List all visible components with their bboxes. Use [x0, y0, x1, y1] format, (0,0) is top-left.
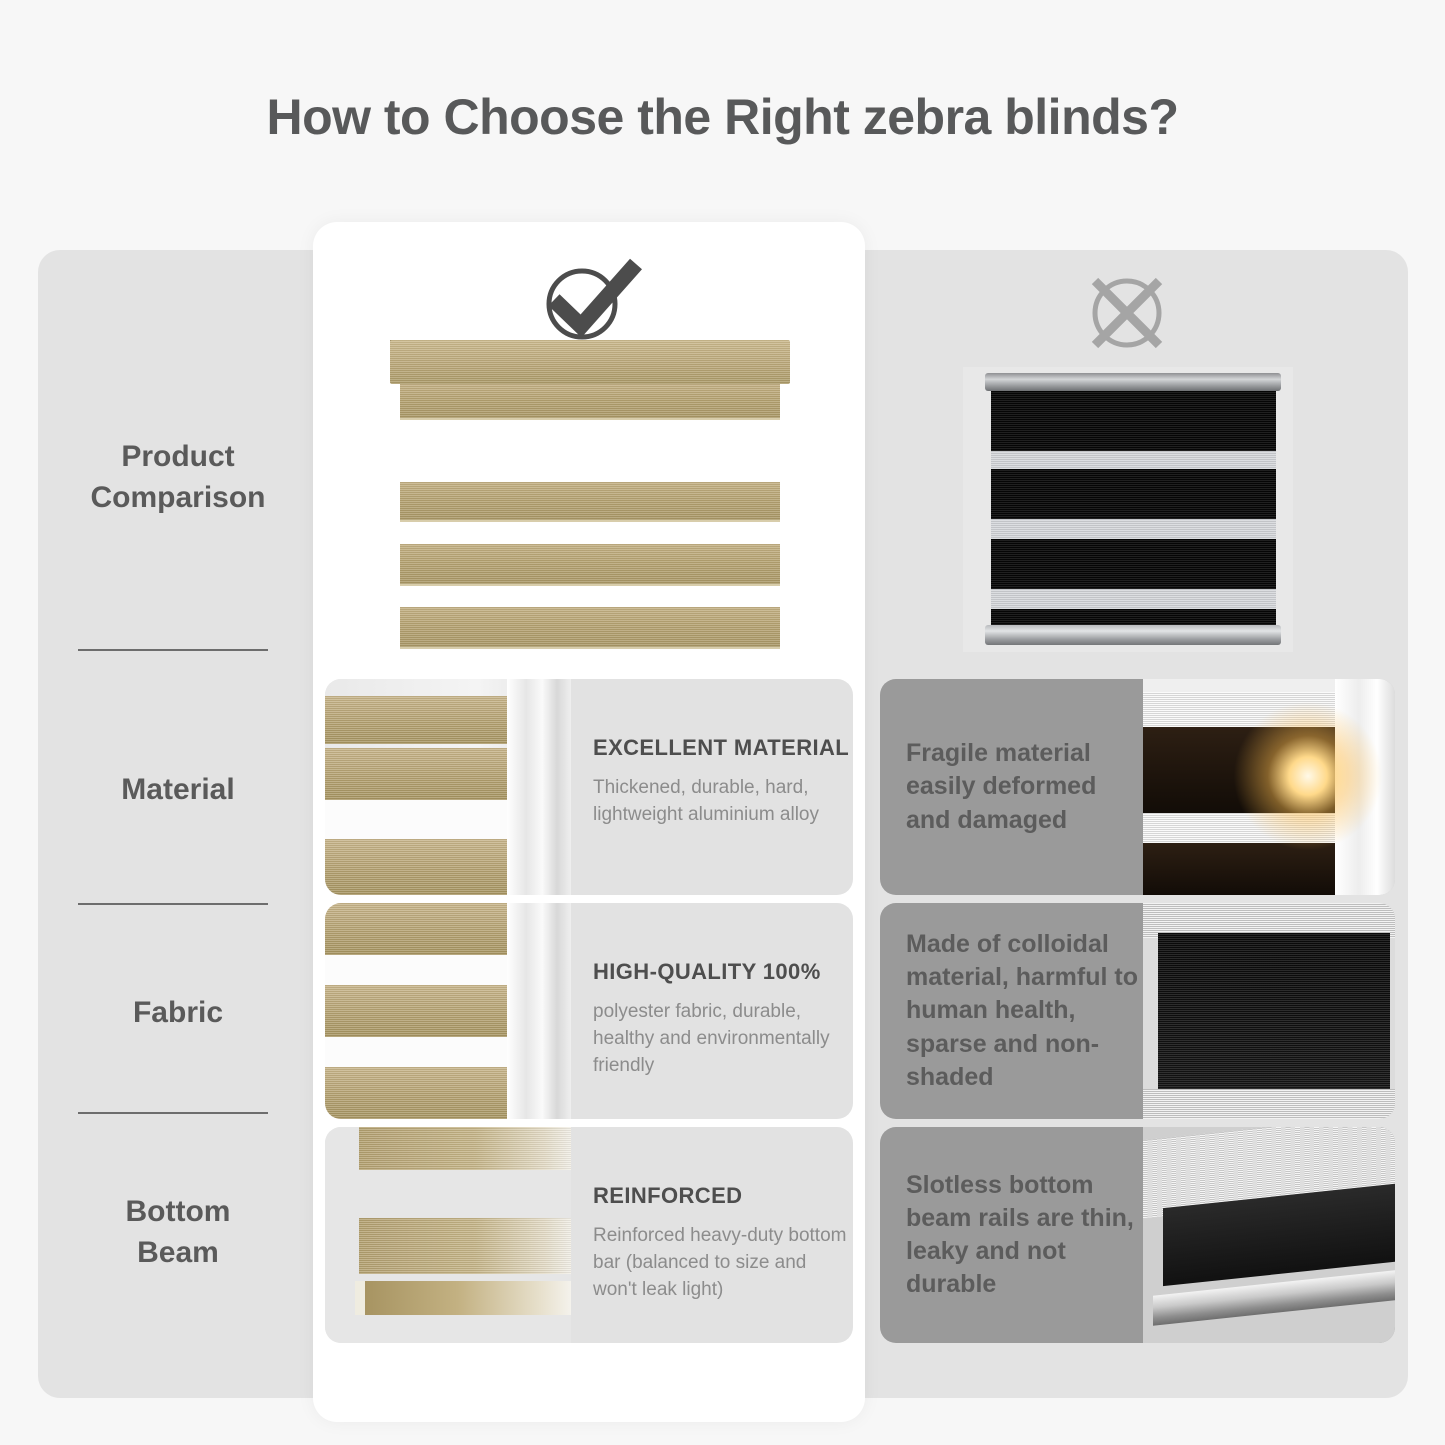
- feature-text: REINFORCED Reinforced heavy-duty bottom …: [571, 1127, 853, 1343]
- row-label-line2: Beam: [58, 1233, 298, 1274]
- feature-card-fabric-bad: Made of colloidal material, harmful to h…: [880, 903, 1395, 1119]
- feature-text: Made of colloidal material, harmful to h…: [880, 903, 1143, 1119]
- row-label-line1: Fabric: [58, 993, 298, 1034]
- feature-text: Slotless bottom beam rails are thin, lea…: [880, 1127, 1143, 1343]
- feature-text: EXCELLENT MATERIAL Thickened, durable, h…: [571, 679, 853, 895]
- row-divider: [78, 903, 268, 905]
- feature-photo: [1143, 1127, 1395, 1343]
- blind-bottom-bar: [985, 625, 1281, 645]
- feature-title: HIGH-QUALITY 100%: [593, 959, 853, 985]
- feature-text: HIGH-QUALITY 100% polyester fabric, dura…: [571, 903, 853, 1119]
- row-label-bottom-beam: Bottom Beam: [58, 1192, 298, 1273]
- feature-photo: [1143, 903, 1395, 1119]
- blind-slat: [400, 607, 780, 649]
- row-label-fabric: Fabric: [58, 993, 298, 1034]
- row-divider: [78, 1112, 268, 1114]
- not-recommended-blind-hero-image: [963, 367, 1293, 652]
- blind-fabric: [991, 391, 1276, 625]
- infographic-root: How to Choose the Right zebra blinds? Pr…: [0, 0, 1445, 1445]
- recommended-blind-hero-image: [390, 340, 790, 665]
- row-label-line2: Comparison: [58, 478, 298, 519]
- row-label-line1: Product: [58, 437, 298, 478]
- feature-card-bottom-beam-bad: Slotless bottom beam rails are thin, lea…: [880, 1127, 1395, 1343]
- feature-description: Fragile material easily deformed and dam…: [906, 737, 1143, 837]
- beige-blinds-photo: [325, 679, 571, 895]
- feature-card-fabric-good: HIGH-QUALITY 100% polyester fabric, dura…: [325, 903, 853, 1119]
- feature-card-material-good: EXCELLENT MATERIAL Thickened, durable, h…: [325, 679, 853, 895]
- row-label-product-comparison: Product Comparison: [58, 437, 298, 518]
- cross-circle-icon: [1086, 272, 1168, 354]
- blind-slat: [400, 384, 780, 420]
- feature-photo: [325, 1127, 571, 1343]
- row-label-material: Material: [58, 770, 298, 811]
- thin-bottom-beam-photo: [1143, 1127, 1395, 1343]
- sun-leak-photo: [1143, 679, 1395, 895]
- feature-title: REINFORCED: [593, 1183, 853, 1209]
- feature-photo: [325, 903, 571, 1119]
- feature-description: Made of colloidal material, harmful to h…: [906, 928, 1143, 1094]
- blind-slat: [400, 544, 780, 586]
- page-title: How to Choose the Right zebra blinds?: [0, 88, 1445, 146]
- blind-headrail: [985, 373, 1281, 391]
- feature-description: Slotless bottom beam rails are thin, lea…: [906, 1169, 1143, 1302]
- blind-slat: [400, 482, 780, 522]
- feature-photo: [1143, 679, 1395, 895]
- feature-photo: [325, 679, 571, 895]
- feature-card-bottom-beam-good: REINFORCED Reinforced heavy-duty bottom …: [325, 1127, 853, 1343]
- check-circle-icon: [536, 258, 646, 340]
- row-label-line1: Material: [58, 770, 298, 811]
- blind-headrail: [390, 340, 790, 384]
- feature-description: polyester fabric, durable, healthy and e…: [593, 999, 853, 1080]
- reinforced-bottom-bar: [355, 1281, 571, 1315]
- black-sheer-blind-photo: [1143, 903, 1395, 1119]
- feature-card-material-bad: Fragile material easily deformed and dam…: [880, 679, 1395, 895]
- beige-fabric-photo: [325, 903, 571, 1119]
- feature-title: EXCELLENT MATERIAL: [593, 735, 853, 761]
- feature-text: Fragile material easily deformed and dam…: [880, 679, 1143, 895]
- feature-description: Reinforced heavy-duty bottom bar (balanc…: [593, 1223, 853, 1304]
- row-label-line1: Bottom: [58, 1192, 298, 1233]
- feature-description: Thickened, durable, hard, lightweight al…: [593, 775, 853, 829]
- row-divider: [78, 649, 268, 651]
